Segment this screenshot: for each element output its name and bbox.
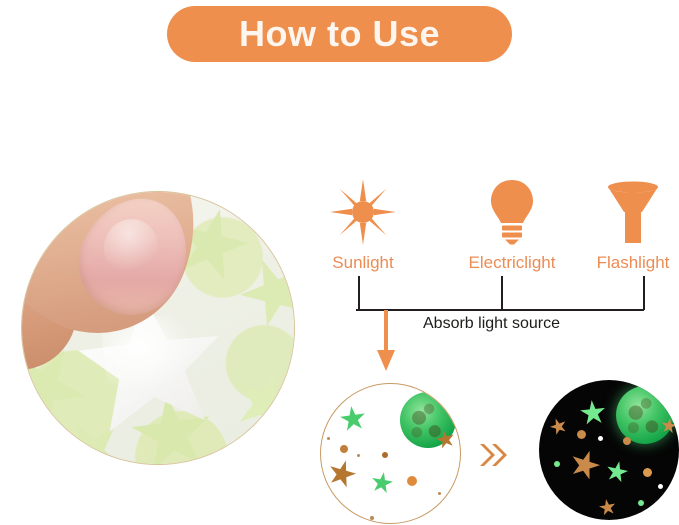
glow-moon-sticker (616, 386, 674, 444)
green-star-sticker (578, 398, 607, 427)
green-star-sticker (339, 405, 368, 434)
brown-star-sticker (548, 415, 570, 437)
result-darkness-circle (539, 380, 679, 520)
green-star-sticker (369, 470, 394, 495)
light-source-label: Flashlight (590, 254, 676, 271)
light-source-electriclight: Electriclight (452, 176, 572, 271)
bracket-bar (356, 309, 644, 311)
light-source-label: Electriclight (452, 254, 572, 271)
dot-sticker (638, 500, 644, 506)
dot-sticker (340, 445, 348, 453)
absorb-light-source-caption: Absorb light source (423, 316, 560, 332)
dot-sticker (407, 476, 417, 486)
dot-sticker (357, 454, 360, 457)
bracket-stem-middle (501, 276, 503, 310)
green-star-sticker (604, 459, 630, 485)
brown-star-sticker (566, 446, 604, 484)
dot-sticker (382, 452, 388, 458)
page-root: How to Use (0, 0, 679, 525)
brown-star-sticker (325, 457, 360, 492)
dot-sticker (577, 430, 586, 439)
flashlight-icon (590, 176, 676, 248)
dot-sticker (643, 468, 652, 477)
dot-sticker (658, 484, 663, 489)
brown-star-sticker (598, 498, 618, 518)
bracket-connector (356, 276, 646, 312)
double-chevron-right-icon (479, 442, 511, 468)
down-arrow-icon (376, 310, 396, 372)
dot-sticker (554, 461, 560, 467)
light-source-flashlight: Flashlight (590, 176, 676, 271)
light-source-sunlight: Sunlight (322, 176, 404, 271)
header-banner: How to Use (167, 6, 512, 62)
bracket-stem-right (643, 276, 645, 310)
photo-contents (22, 192, 294, 464)
light-source-label: Sunlight (322, 254, 404, 271)
dot-sticker (327, 437, 330, 440)
product-photo (22, 192, 294, 464)
sun-icon (322, 176, 404, 248)
dot-sticker (598, 436, 603, 441)
bracket-stem-left (358, 276, 360, 310)
result-daylight-circle (320, 383, 461, 524)
dot-sticker (438, 492, 441, 495)
light-bulb-icon (452, 176, 572, 248)
dot-sticker (623, 437, 631, 445)
page-title: How to Use (239, 16, 440, 52)
dot-sticker (370, 516, 374, 520)
